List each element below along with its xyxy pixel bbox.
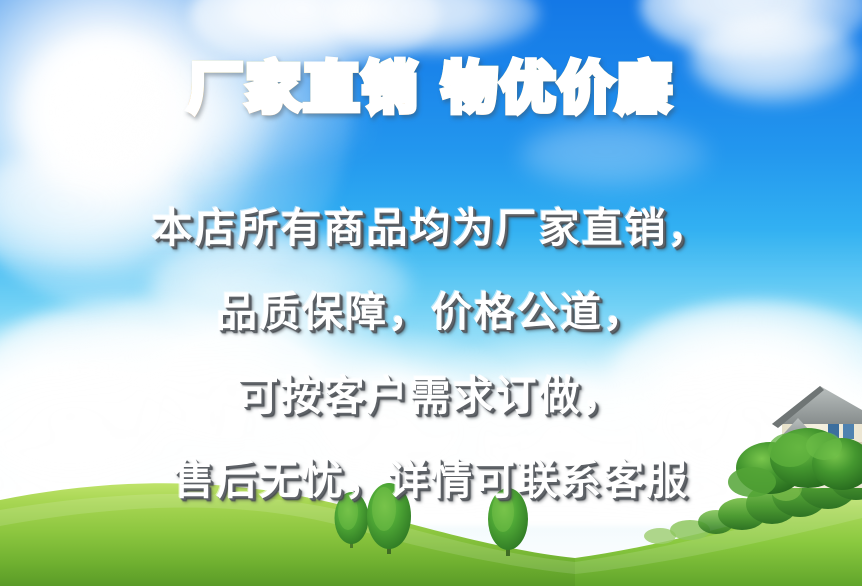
body-line-1: 本店所有商品均为厂家直销，: [0, 186, 862, 270]
headline-text: 厂家直销 物优价廉: [188, 58, 674, 120]
body-line-2: 品质保障，价格公道，: [0, 270, 862, 354]
body-line-3: 可按客户需求订做，: [0, 354, 862, 438]
body-copy-container: 本店所有商品均为厂家直销， 品质保障，价格公道， 可按客户需求订做， 售后无忧，…: [0, 186, 862, 522]
promo-banner: 厂家直销 物优价廉 本店所有商品均为厂家直销， 品质保障，价格公道， 可按客户需…: [0, 0, 862, 586]
cloud-shape: [520, 120, 710, 190]
body-line-4: 售后无忧，详情可联系客服: [0, 438, 862, 522]
headline-container: 厂家直销 物优价廉: [0, 58, 862, 120]
